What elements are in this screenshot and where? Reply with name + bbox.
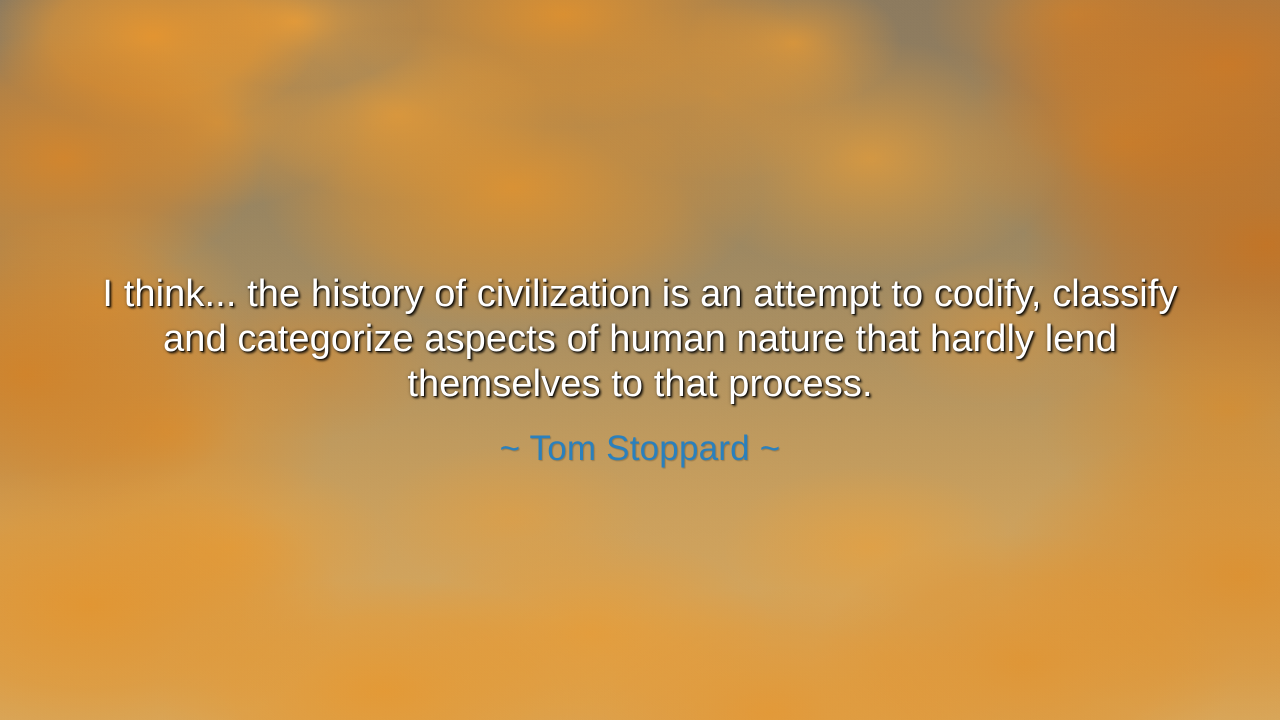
quote-block: I think... the history of civilization i… [80,272,1200,469]
quote-text: I think... the history of civilization i… [80,272,1200,407]
quote-image-canvas: I think... the history of civilization i… [0,0,1280,720]
quote-attribution: ~ Tom Stoppard ~ [80,429,1200,469]
